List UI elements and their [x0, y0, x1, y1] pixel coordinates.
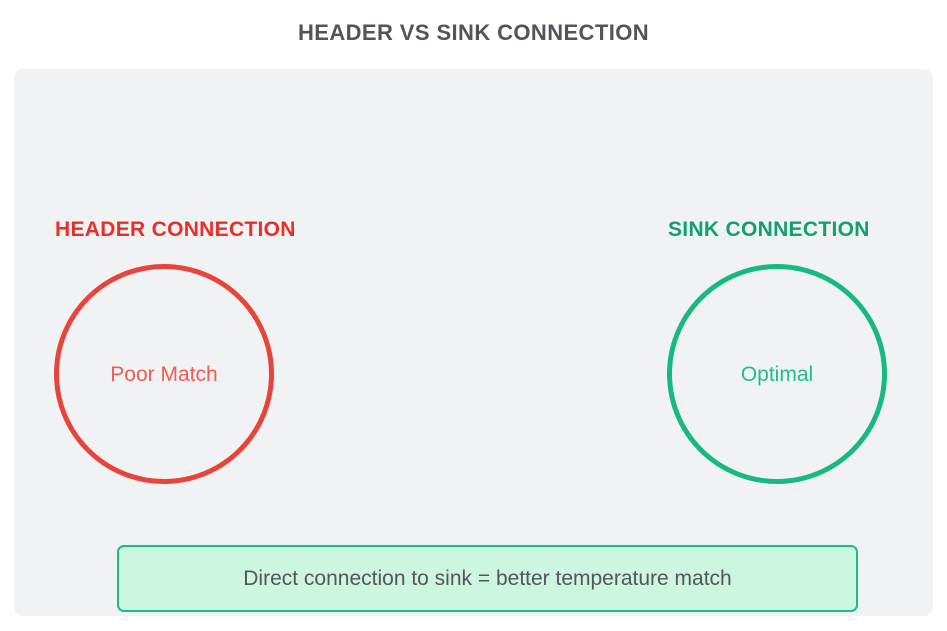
page-title: HEADER VS SINK CONNECTION [0, 20, 947, 46]
header-connection-circle: Poor Match [54, 264, 274, 484]
header-connection-circle-label: Poor Match [110, 364, 217, 385]
figure-canvas: HEADER VS SINK CONNECTION HEADER CONNECT… [0, 0, 947, 631]
column-label-sink-connection: SINK CONNECTION [668, 218, 870, 242]
sink-connection-circle-label: Optimal [741, 364, 813, 385]
conclusion-banner: Direct connection to sink = better tempe… [117, 545, 858, 612]
sink-connection-circle: Optimal [667, 264, 887, 484]
column-label-header-connection: HEADER CONNECTION [55, 218, 296, 242]
conclusion-banner-text: Direct connection to sink = better tempe… [243, 568, 732, 589]
diagram-panel: HEADER CONNECTION Poor Match SINK CONNEC… [14, 69, 933, 616]
